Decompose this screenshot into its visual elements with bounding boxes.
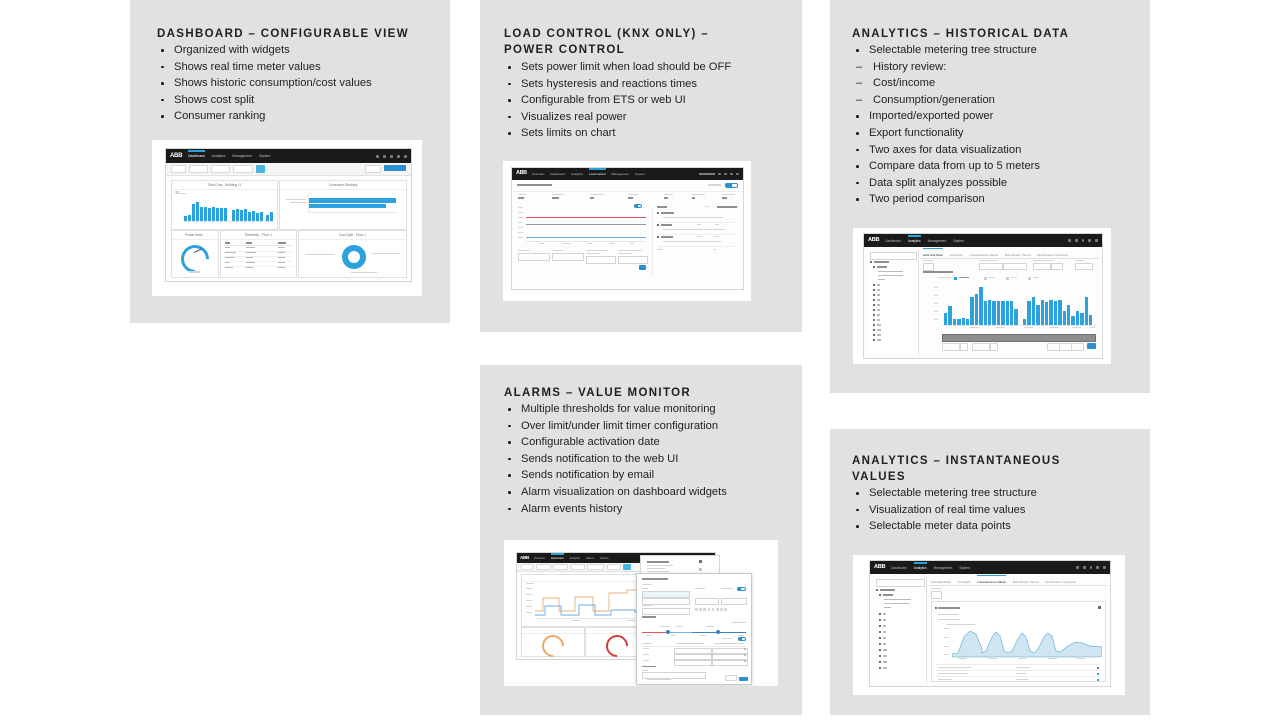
table-row[interactable] — [642, 659, 746, 664]
tree-item[interactable] — [873, 329, 881, 331]
nav-item-management[interactable]: Management — [928, 239, 947, 243]
list-item[interactable] — [657, 223, 737, 235]
under-limit-input[interactable] — [712, 660, 748, 666]
tree-item[interactable] — [873, 334, 881, 336]
tree-item[interactable] — [879, 631, 886, 633]
list-item: Shows historic consumption/cost values — [157, 75, 442, 92]
list-item: Visualizes real power — [504, 109, 794, 126]
gauge-dial — [601, 630, 632, 660]
real-power-line — [526, 237, 646, 238]
filter-all[interactable] — [256, 165, 265, 173]
tree-item[interactable] — [879, 613, 886, 615]
first-axis-select-2[interactable] — [1003, 263, 1027, 270]
list-item: Two axes for data visualization — [852, 142, 1142, 159]
abb-logo: ABB — [520, 556, 529, 561]
widget-title: Electricity - Floor 1 — [221, 233, 296, 237]
threshold-slider[interactable] — [642, 630, 746, 638]
tree-search-input[interactable] — [876, 579, 925, 587]
limit-toggle[interactable] — [738, 637, 746, 641]
presentation-slide: Dashboard – Configurable view Organized … — [0, 0, 1280, 720]
card-title — [938, 607, 960, 609]
list-item: Configurable from ETS or web UI — [504, 92, 794, 109]
instant-values-card[interactable] — [931, 601, 1106, 682]
tree-item[interactable] — [879, 655, 887, 657]
limit-line[interactable] — [526, 217, 646, 218]
widget-gauge-orange[interactable] — [521, 627, 585, 657]
filter-last-week[interactable] — [571, 564, 585, 571]
metering-tree[interactable] — [874, 577, 927, 683]
nav-item-system[interactable]: System — [600, 557, 609, 560]
list-item: Data split analyzes possible — [852, 175, 1142, 192]
list-item: Selectable meter data points — [852, 518, 1142, 535]
panel-load-control: Load control (KNX only) – Power control … — [480, 0, 802, 332]
over-limit-input[interactable] — [674, 660, 712, 666]
list-item: Alarm visualization on dashboard widgets — [504, 484, 794, 501]
analytics-app-window: ABB Dashboard Analytics Management Syste… — [863, 233, 1103, 359]
identity-select[interactable] — [923, 263, 934, 271]
nav-item-system[interactable]: System — [953, 239, 964, 243]
summary-row — [512, 192, 743, 204]
gauge-dial — [175, 239, 215, 279]
date-controls — [942, 343, 1096, 351]
feature-list: Organized with widgets Shows real time m… — [157, 42, 442, 125]
enabled-toggle[interactable] — [737, 587, 746, 591]
navbar-icon[interactable] — [724, 173, 727, 176]
tree-item[interactable] — [873, 284, 880, 286]
filter-last-7-days[interactable] — [536, 564, 551, 571]
filter-last-quarter[interactable] — [233, 165, 253, 173]
top-navbar: ABB Overview Dashboard Analytics Load co… — [512, 168, 743, 180]
navbar-icon[interactable] — [1096, 566, 1099, 569]
list-item: Shows real time meter values — [157, 59, 442, 76]
page-title: Analytics – Historical data — [852, 27, 1132, 43]
tree-item[interactable] — [879, 643, 886, 645]
tree-item[interactable] — [873, 299, 880, 301]
navbar-icon[interactable] — [1090, 566, 1093, 569]
tab-instantaneous-values[interactable]: Instantaneous Values — [969, 253, 998, 257]
load-control-screenshot: ABB Overview Dashboard Analytics Load co… — [503, 161, 751, 301]
page-title: Dashboard – Configurable view — [157, 27, 437, 43]
filter-last-year[interactable] — [607, 564, 621, 571]
tree-item-floor[interactable] — [873, 266, 887, 268]
filter-last-month[interactable] — [211, 165, 230, 173]
abb-logo: ABB — [874, 565, 885, 571]
analytics-instant-screenshot: ABB Dashboard Analytics Management Syste… — [853, 555, 1125, 695]
navbar-icon[interactable] — [1083, 566, 1086, 569]
edit-screen-button[interactable] — [384, 165, 406, 171]
abb-logo: ABB — [868, 238, 879, 244]
page-title: Load control (KNX only) – Power control — [504, 27, 744, 58]
tree-item-dbox-2[interactable] — [878, 275, 903, 276]
identity-select[interactable] — [931, 591, 942, 599]
filter-last-7-days[interactable] — [189, 165, 208, 173]
filter-yesterday[interactable] — [553, 564, 568, 571]
abb-logo: ABB — [516, 171, 527, 176]
over-limit-timer-input[interactable] — [586, 256, 616, 264]
page-title: Analytics – Instantaneous values — [852, 454, 1102, 485]
donut-chart — [342, 245, 366, 269]
tab-benchmark-consumer[interactable]: Benchmark: Consumer — [1046, 580, 1077, 584]
tree-item[interactable] — [879, 649, 887, 651]
analytics-historical-screenshot: ABB Dashboard Analytics Management Syste… — [853, 228, 1111, 364]
alarm-type-select[interactable] — [695, 598, 719, 605]
navbar-icon[interactable] — [736, 173, 739, 176]
panel-analytics-historical: Analytics – Historical data Selectable m… — [830, 0, 1150, 393]
dialog-title — [642, 578, 668, 580]
alarm-source-select[interactable] — [642, 598, 690, 605]
tab-cost-split[interactable]: Cost Split — [950, 253, 963, 257]
alarm-configuration-dialog[interactable] — [636, 573, 752, 685]
list-item: History review: — [852, 59, 1142, 76]
navbar-icon[interactable] — [1075, 239, 1078, 242]
list-item: Alarm events history — [504, 501, 794, 518]
filter-bar — [166, 163, 411, 176]
nav-item-dashboard[interactable]: Dashboard — [550, 172, 565, 176]
nav-item-dashboard[interactable]: Dashboard — [188, 154, 205, 158]
tree-item-dbox-2[interactable] — [884, 603, 909, 604]
navbar-icon[interactable] — [397, 155, 400, 158]
nav-item-system[interactable]: System — [259, 154, 270, 158]
tree-item[interactable] — [873, 294, 880, 296]
tree-item[interactable] — [873, 324, 881, 326]
abb-logo: ABB — [170, 153, 182, 159]
navbar-icon[interactable] — [730, 173, 733, 176]
date-to-input[interactable] — [972, 343, 990, 351]
navbar-icon[interactable] — [1095, 239, 1098, 242]
panel-alarms: Alarms – Value monitor Multiple threshol… — [480, 365, 802, 715]
tree-item[interactable] — [879, 637, 886, 639]
save-button[interactable] — [739, 677, 748, 682]
done-button[interactable] — [365, 165, 381, 173]
cancel-button[interactable] — [725, 675, 737, 682]
period-month-button[interactable] — [1071, 343, 1084, 351]
widget-power-active[interactable]: Power Activ... — [171, 230, 219, 278]
nav-item-system[interactable]: System — [959, 566, 970, 570]
tree-item[interactable] — [879, 661, 887, 663]
list-item: Sets hysteresis and reactions times — [504, 76, 794, 93]
power-chart — [518, 206, 646, 246]
list-item[interactable] — [657, 235, 737, 247]
top-navbar: ABB Dashboard Analytics Management Syste… — [864, 234, 1102, 247]
nav-item-management[interactable]: Management — [232, 154, 252, 158]
tree-item-other[interactable] — [884, 607, 891, 608]
widget-title: Total Cost - Building 11 — [172, 183, 277, 187]
historical-bar-chart — [930, 283, 1097, 331]
list-item: Compare data from up to 5 meters — [852, 158, 1142, 175]
navbar-icon[interactable] — [404, 155, 407, 158]
tree-item[interactable] — [873, 304, 880, 306]
nav-item-analytics[interactable]: Analytics — [571, 172, 583, 176]
feature-list: Sets power limit when load should be OFF… — [504, 59, 794, 142]
navbar-icon[interactable] — [1103, 566, 1106, 569]
tree-item-building[interactable] — [876, 589, 895, 591]
widget-cost-split[interactable]: Cost Split - Floor 1 — [298, 230, 407, 278]
tree-item[interactable] — [873, 319, 880, 321]
nav-item-management[interactable]: Management — [612, 172, 630, 176]
nav-item-dashboard[interactable]: Dashboard — [551, 557, 564, 560]
nav-item-dashboard[interactable]: Dashboard — [885, 239, 901, 243]
nav-item-analytics[interactable]: Analytics — [914, 566, 927, 570]
nav-item-analytics[interactable]: Analytics — [570, 557, 580, 560]
tab-instantaneous-values[interactable]: Instantaneous Values — [977, 580, 1006, 584]
analytics-tabs: Historical Data Cost Split Instantaneous… — [921, 251, 1099, 259]
navbar-icon[interactable] — [1076, 566, 1079, 569]
tree-item[interactable] — [879, 619, 886, 621]
page-title: Alarms – Value monitor — [504, 386, 784, 402]
nav-item-load-control[interactable]: Load control — [589, 172, 606, 176]
tree-item[interactable] — [873, 309, 880, 311]
list-item: Selectable metering tree structure — [852, 485, 1142, 502]
nav-item-alarms[interactable]: Alarms — [586, 557, 594, 560]
alarm-name-input[interactable] — [642, 591, 690, 598]
widget-title: Consumer Ranking — [280, 183, 406, 187]
navbar-icon[interactable] — [718, 173, 721, 176]
instant-area-chart — [944, 627, 1099, 660]
alarm-unit-select[interactable] — [721, 598, 747, 605]
widget-consumer-ranking[interactable]: Consumer Ranking — [279, 180, 407, 230]
list-item: Cost/income — [852, 75, 1142, 92]
tab-benchmark-consumer[interactable]: Benchmark: Consumer — [1038, 253, 1069, 257]
tree-item[interactable] — [873, 339, 881, 341]
calendar-from-icon[interactable] — [960, 343, 968, 351]
tab-historical-data[interactable]: Historical Data — [931, 580, 951, 584]
widget-electricity-table[interactable]: Electricity - Floor 1 — [220, 230, 297, 278]
list-item: Multiple thresholds for value monitoring — [504, 401, 794, 418]
feature-list: Selectable metering tree structure Visua… — [852, 485, 1142, 535]
navbar-icon[interactable] — [376, 155, 379, 158]
tab-benchmark-period[interactable]: Benchmark: Period — [1005, 253, 1031, 257]
list-item: Sends notification by email — [504, 467, 794, 484]
second-axis-select-2[interactable] — [1051, 263, 1063, 270]
tree-item[interactable] — [873, 314, 880, 316]
tree-item-floor[interactable] — [879, 594, 893, 596]
threshold-table — [642, 642, 746, 664]
list-item[interactable] — [657, 211, 737, 223]
page-header — [512, 180, 743, 192]
save-button[interactable] — [639, 265, 646, 270]
alarms-screenshot: ABB Overview Dashboard Analytics Alarms … — [504, 540, 778, 686]
widget-title: Power Activ... — [172, 233, 218, 237]
nav-item-management[interactable]: Management — [934, 566, 953, 570]
tree-item[interactable] — [879, 667, 887, 669]
second-axis-select-1[interactable] — [1033, 263, 1051, 270]
top-navbar: ABB Dashboard Analytics Management Syste… — [166, 149, 411, 163]
period-all-button[interactable] — [1087, 343, 1096, 349]
date-from-input[interactable] — [942, 343, 960, 351]
top-navbar: ABB Dashboard Analytics Management Syste… — [870, 561, 1110, 574]
tree-item[interactable] — [873, 289, 880, 291]
widget-total-cost[interactable]: Total Cost - Building 11 — [171, 180, 278, 230]
tree-item-building[interactable] — [870, 261, 889, 263]
axis-settings-row — [923, 260, 1099, 274]
tree-item-dbox-1[interactable] — [884, 599, 911, 600]
filter-today[interactable] — [171, 165, 186, 173]
filter-today[interactable] — [521, 564, 533, 571]
under-limit-timer-input[interactable] — [618, 256, 648, 264]
tree-item-other[interactable] — [878, 279, 885, 280]
panel-dashboard: Dashboard – Configurable view Organized … — [130, 0, 450, 323]
feature-list: Multiple thresholds for value monitoring… — [504, 401, 794, 517]
calendar-to-icon[interactable] — [990, 343, 998, 351]
hysteresis-input[interactable] — [552, 253, 584, 261]
list-item: Imported/exported power — [852, 108, 1142, 125]
table-row — [224, 266, 293, 271]
widget-title: Cost Split - Floor 1 — [299, 233, 406, 237]
gauge-dial — [537, 630, 568, 660]
instant-app-window: ABB Dashboard Analytics Management Syste… — [869, 560, 1111, 687]
auto-manual-toggle[interactable] — [725, 183, 738, 188]
list-item: Over limit/under limit timer configurati… — [504, 418, 794, 435]
limit-input[interactable] — [518, 253, 550, 261]
table-row[interactable] — [642, 653, 746, 658]
dashboard-screenshot: ABB Dashboard Analytics Management Syste… — [152, 140, 422, 296]
analytics-tabs: Historical Data Cost Split Instantaneous… — [929, 578, 1107, 586]
load-list-panel — [652, 206, 739, 275]
alarm-datapoint-select[interactable] — [642, 608, 690, 615]
settings-icon — [1098, 606, 1101, 609]
tree-item-dbox-1[interactable] — [878, 271, 903, 272]
nav-item-overview[interactable]: Overview — [532, 172, 545, 176]
navbar-icon[interactable] — [1068, 239, 1071, 242]
list-item: Organized with widgets — [157, 42, 442, 59]
list-item: Consumption/generation — [852, 92, 1142, 109]
chart-toggle[interactable] — [634, 204, 642, 208]
table-row[interactable] — [642, 647, 746, 652]
navbar-icon[interactable] — [390, 155, 393, 158]
export-button[interactable] — [1075, 263, 1093, 270]
nav-item-analytics[interactable]: Analytics — [908, 239, 921, 243]
notification-select[interactable] — [642, 672, 706, 679]
nav-item-overview[interactable]: Overview — [534, 557, 545, 560]
first-axis-select-1[interactable] — [979, 263, 1003, 270]
list-item: Consumer ranking — [157, 108, 442, 125]
list-item: Sets limits on chart — [504, 125, 794, 142]
load-control-app-window: ABB Overview Dashboard Analytics Load co… — [511, 167, 744, 290]
chart-legend — [938, 276, 1099, 281]
nav-item-dashboard[interactable]: Dashboard — [891, 566, 907, 570]
tree-search-input[interactable] — [870, 252, 917, 260]
list-item: Configurable activation date — [504, 434, 794, 451]
tab-cost-split[interactable]: Cost Split — [958, 580, 971, 584]
metering-tree[interactable] — [868, 250, 919, 355]
nav-item-analytics[interactable]: Analytics — [212, 154, 226, 158]
feature-list: Selectable metering tree structure Histo… — [852, 42, 1142, 208]
navbar-icon[interactable] — [1082, 239, 1085, 242]
tab-benchmark-period[interactable]: Benchmark: Period — [1013, 580, 1039, 584]
limit-form — [518, 250, 646, 272]
navbar-icon[interactable] — [1088, 239, 1091, 242]
dashboard-app-window: ABB Dashboard Analytics Management Syste… — [165, 148, 412, 282]
list-item: Selectable metering tree structure — [852, 42, 1142, 59]
tree-item[interactable] — [879, 625, 886, 627]
nav-item-system[interactable]: System — [635, 172, 645, 176]
filter-all[interactable] — [623, 564, 631, 571]
bar-chart — [184, 195, 273, 221]
list-item: Two period comparison — [852, 191, 1142, 208]
list-item: Export functionality — [852, 125, 1142, 142]
list-item: Sets power limit when load should be OFF — [504, 59, 794, 76]
list-item: Visualization of real time values — [852, 502, 1142, 519]
navbar-icon[interactable] — [383, 155, 386, 158]
table-row[interactable] — [936, 676, 1101, 683]
filter-last-month[interactable] — [587, 564, 604, 571]
panel-analytics-instantaneous: Analytics – Instantaneous values Selecta… — [830, 429, 1150, 715]
list-item: Sends notification to the web UI — [504, 451, 794, 468]
list-item: Shows cost split — [157, 92, 442, 109]
chart-range-scrollbar[interactable] — [942, 334, 1096, 342]
tab-historical-data[interactable]: Historical Data — [923, 253, 943, 257]
